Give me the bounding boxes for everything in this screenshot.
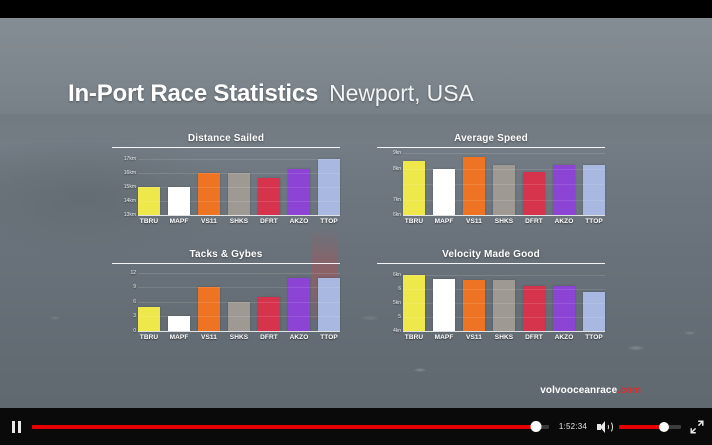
volume-slider-handle[interactable] xyxy=(659,422,669,432)
grid-line xyxy=(403,200,605,201)
bar-mapf xyxy=(168,316,190,331)
chart-plot-area: 6kn7kn8kn9kn TBRUMAPFVS11SHKSDFRTAKZOTTO… xyxy=(377,153,605,223)
bar-akzo xyxy=(288,169,310,216)
y-axis: 4kn55kn66kn xyxy=(377,269,403,331)
y-axis-tick-label: 16km xyxy=(124,170,136,176)
x-axis-label-dfrt: DFRT xyxy=(258,334,280,341)
volume-slider[interactable] xyxy=(619,421,681,433)
grid-line xyxy=(138,302,340,303)
chart-panel-average-speed: Average Speed 6kn7kn8kn9kn TBRUMAPFVS11S… xyxy=(377,132,605,232)
grid-line xyxy=(138,159,340,160)
chart-title: Tacks & Gybes xyxy=(112,248,340,261)
chart-plot-area: 4kn55kn66kn TBRUMAPFVS11SHKSDFRTAKZOTTOP xyxy=(377,269,605,339)
bar-ttop xyxy=(318,278,340,331)
x-axis-label-vs11: VS11 xyxy=(198,218,220,225)
bar-akzo xyxy=(553,286,575,331)
bar-vs11 xyxy=(198,287,220,331)
grid-line xyxy=(138,173,340,174)
x-axis-label-dfrt: DFRT xyxy=(258,218,280,225)
progress-bar[interactable] xyxy=(32,421,549,433)
y-axis-tick-label: 8kn xyxy=(393,166,401,172)
x-axis-label-mapf: MAPF xyxy=(168,218,190,225)
watermark-tld: .com xyxy=(617,385,641,396)
bar-vs11 xyxy=(198,173,220,215)
chart-title-rule xyxy=(112,147,340,148)
volume-icon[interactable] xyxy=(597,420,612,434)
chart-panel-velocity-made-good: Velocity Made Good 4kn55kn66kn TBRUMAPFV… xyxy=(377,248,605,348)
y-axis: 036912 xyxy=(112,269,138,331)
chart-title: Distance Sailed xyxy=(112,132,340,145)
chart-title-rule xyxy=(112,263,340,264)
bar-vs11 xyxy=(463,157,485,215)
x-axis: TBRUMAPFVS11SHKSDFRTAKZOTTOP xyxy=(403,215,605,225)
grid-line xyxy=(138,273,340,274)
grid-line xyxy=(138,316,340,317)
y-axis-tick-label: 6kn xyxy=(393,272,401,278)
bar-mapf xyxy=(433,279,455,331)
bar-akzo xyxy=(553,165,575,215)
y-axis-tick-label: 15km xyxy=(124,184,136,190)
y-axis-tick-label: 14km xyxy=(124,198,136,204)
title-location: Newport, USA xyxy=(329,80,474,107)
y-axis-tick-label: 13km xyxy=(124,212,136,218)
x-axis-label-dfrt: DFRT xyxy=(523,334,545,341)
y-axis: 6kn7kn8kn9kn xyxy=(377,153,403,215)
chart-plot-area: 13km14km15km16km17km TBRUMAPFVS11SHKSDFR… xyxy=(112,153,340,223)
grid-line xyxy=(403,153,605,154)
grid-line xyxy=(403,303,605,304)
y-axis: 13km14km15km16km17km xyxy=(112,153,138,215)
y-axis-tick-label: 0 xyxy=(133,328,136,334)
bar-dfrt xyxy=(258,178,280,215)
x-axis-label-akzo: AKZO xyxy=(288,218,310,225)
x-axis-label-vs11: VS11 xyxy=(198,334,220,341)
y-axis-tick-label: 5kn xyxy=(393,300,401,306)
x-axis-label-vs11: VS11 xyxy=(463,334,485,341)
x-axis-label-akzo: AKZO xyxy=(553,218,575,225)
x-axis-label-mapf: MAPF xyxy=(433,334,455,341)
time-display: 1:52:34 xyxy=(556,422,590,431)
y-axis-tick-label: 17km xyxy=(124,156,136,162)
y-axis-tick-label: 5 xyxy=(398,314,401,320)
bar-series xyxy=(138,269,340,331)
x-axis-label-ttop: TTOP xyxy=(583,218,605,225)
grid-line xyxy=(138,187,340,188)
bar-series xyxy=(403,269,605,331)
y-axis-tick-label: 6 xyxy=(133,299,136,305)
grid-line xyxy=(403,184,605,185)
x-axis-label-akzo: AKZO xyxy=(288,334,310,341)
y-axis-tick-label: 7kn xyxy=(393,197,401,203)
pause-icon-bar-right xyxy=(18,421,21,433)
x-axis-label-dfrt: DFRT xyxy=(523,218,545,225)
chart-title-rule xyxy=(377,147,605,148)
bar-ttop xyxy=(583,165,605,215)
chart-title: Average Speed xyxy=(377,132,605,145)
grid-line xyxy=(138,287,340,288)
progress-fill xyxy=(32,425,536,429)
player-control-bar: 1:52:34 xyxy=(0,408,712,445)
fullscreen-icon[interactable] xyxy=(690,420,704,434)
volume-fill xyxy=(619,425,664,429)
page-title: In-Port Race Statistics Newport, USA xyxy=(68,80,474,108)
bar-mapf xyxy=(433,169,455,216)
x-axis-label-tbru: TBRU xyxy=(403,218,425,225)
grid-line xyxy=(138,215,340,216)
y-axis-tick-label: 6kn xyxy=(393,212,401,218)
chart-panel-tacks-and-gybes: Tacks & Gybes 036912 TBRUMAPFVS11SHKSDFR… xyxy=(112,248,340,348)
x-axis-label-shks: SHKS xyxy=(493,218,515,225)
progress-scrubber-handle[interactable] xyxy=(530,421,541,432)
grid-line xyxy=(403,169,605,170)
statistics-graphic: In-Port Race Statistics Newport, USA Dis… xyxy=(0,18,712,408)
pause-button[interactable] xyxy=(8,418,25,435)
bar-shks xyxy=(228,173,250,215)
x-axis: TBRUMAPFVS11SHKSDFRTAKZOTTOP xyxy=(138,331,340,341)
grid-line xyxy=(403,331,605,332)
y-axis-tick-label: 3 xyxy=(133,313,136,319)
x-axis-label-tbru: TBRU xyxy=(138,334,160,341)
bar-series xyxy=(138,153,340,215)
y-axis-tick-label: 12 xyxy=(130,270,136,276)
x-axis: TBRUMAPFVS11SHKSDFRTAKZOTTOP xyxy=(403,331,605,341)
x-axis-label-vs11: VS11 xyxy=(463,218,485,225)
x-axis-label-mapf: MAPF xyxy=(433,218,455,225)
x-axis: TBRUMAPFVS11SHKSDFRTAKZOTTOP xyxy=(138,215,340,225)
grid-line xyxy=(138,331,340,332)
y-axis-tick-label: 4kn xyxy=(393,328,401,334)
bar-dfrt xyxy=(523,172,545,215)
x-axis-label-mapf: MAPF xyxy=(168,334,190,341)
bar-akzo xyxy=(288,278,310,331)
x-axis-label-ttop: TTOP xyxy=(583,334,605,341)
bar-ttop xyxy=(583,292,605,331)
bar-dfrt xyxy=(523,286,545,331)
y-axis-tick-label: 6 xyxy=(398,286,401,292)
bar-tbru xyxy=(138,307,160,331)
grid-line xyxy=(403,317,605,318)
x-axis-label-shks: SHKS xyxy=(493,334,515,341)
x-axis-label-tbru: TBRU xyxy=(403,334,425,341)
bar-shks xyxy=(493,165,515,215)
video-player-screen: In-Port Race Statistics Newport, USA Dis… xyxy=(0,0,712,445)
video-frame[interactable]: In-Port Race Statistics Newport, USA Dis… xyxy=(0,18,712,408)
grid-line xyxy=(403,289,605,290)
x-axis-label-ttop: TTOP xyxy=(318,218,340,225)
watermark: volvooceanrace.com xyxy=(0,385,712,396)
chart-panel-distance-sailed: Distance Sailed 13km14km15km16km17km TBR… xyxy=(112,132,340,232)
x-axis-label-tbru: TBRU xyxy=(138,218,160,225)
x-axis-label-ttop: TTOP xyxy=(318,334,340,341)
x-axis-label-akzo: AKZO xyxy=(553,334,575,341)
y-axis-tick-label: 9kn xyxy=(393,150,401,156)
chart-title: Velocity Made Good xyxy=(377,248,605,261)
y-axis-tick-label: 9 xyxy=(133,284,136,290)
pause-icon-bar-left xyxy=(12,421,15,433)
grid-line xyxy=(403,275,605,276)
x-axis-label-shks: SHKS xyxy=(228,334,250,341)
x-axis-label-shks: SHKS xyxy=(228,218,250,225)
chart-title-rule xyxy=(377,263,605,264)
chart-plot-area: 036912 TBRUMAPFVS11SHKSDFRTAKZOTTOP xyxy=(112,269,340,339)
title-main: In-Port Race Statistics xyxy=(68,80,318,108)
grid-line xyxy=(138,201,340,202)
watermark-name: volvooceanrace xyxy=(540,385,617,396)
volume-icon-wave-outer xyxy=(606,421,613,433)
grid-line xyxy=(403,215,605,216)
